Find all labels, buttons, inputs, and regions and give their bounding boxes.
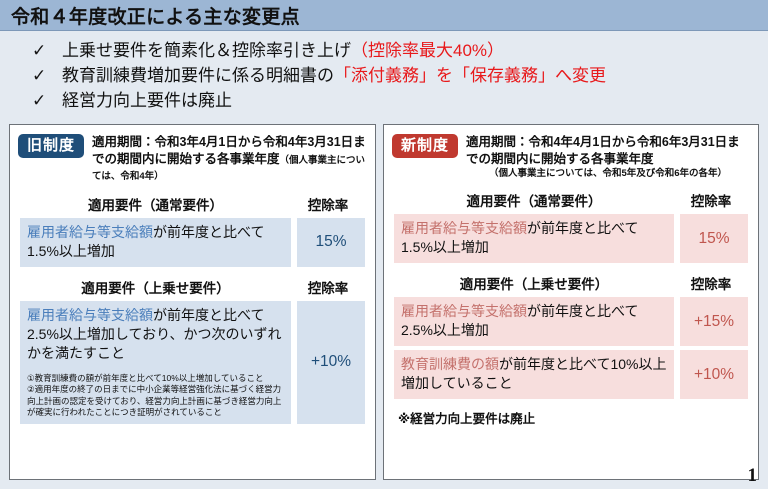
period-note-text: （個人事業主については、令和5年及び令和6年の各年） bbox=[466, 167, 750, 180]
new-system-panel: 新制度 適用期間：令和4年4月1日から令和6年3月31日までの期間内に開始する各… bbox=[383, 124, 759, 480]
rate-cell: +10% bbox=[680, 350, 748, 399]
table-row: 教育訓練費の額が前年度と比べて10%以上増加していること +10% bbox=[394, 350, 748, 399]
rate-cell: 15% bbox=[680, 214, 748, 263]
column-header-condition: 適用要件（上乗せ要件） bbox=[394, 273, 674, 293]
old-normal-column-headers: 適用要件（通常要件） 控除率 bbox=[20, 194, 365, 214]
condition-stack: 雇用者給与等支給額が前年度と比べて2.5%以上増加しており、かつ次のいずれかを満… bbox=[20, 301, 291, 424]
rate-cell: +10% bbox=[297, 301, 365, 424]
bullet-text: 経営力向上要件は廃止 bbox=[62, 89, 232, 113]
new-normal-requirement-section: 適用要件（通常要件） 控除率 雇用者給与等支給額が前年度と比べて1.5%以上増加… bbox=[384, 190, 758, 263]
condition-cell: 雇用者給与等支給額が前年度と比べて2.5%以上増加 bbox=[394, 297, 674, 346]
table-row: 雇用者給与等支給額が前年度と比べて1.5%以上増加 15% bbox=[20, 218, 365, 267]
check-icon: ✓ bbox=[32, 89, 62, 113]
check-icon: ✓ bbox=[32, 64, 62, 88]
condition-keyword: 雇用者給与等支給額 bbox=[27, 307, 153, 323]
fineprint-item-1: ①教育訓練費の額が前年度と比べて10%以上増加していること bbox=[27, 373, 284, 385]
condition-cell: 教育訓練費の額が前年度と比べて10%以上増加していること bbox=[394, 350, 674, 399]
rate-cell: +15% bbox=[680, 297, 748, 346]
old-normal-requirement-section: 適用要件（通常要件） 控除率 雇用者給与等支給額が前年度と比べて1.5%以上増加… bbox=[10, 194, 375, 267]
fineprint-item-2: ②適用年度の終了の日までに中小企業等経営強化法に基づく経営力向上計画の認定を受け… bbox=[27, 384, 284, 419]
old-system-panel: 旧制度 適用期間：令和3年4月1日から令和4年3月31日までの期間内に開始する各… bbox=[9, 124, 376, 480]
column-header-rate: 控除率 bbox=[674, 273, 748, 293]
condition-cell: 雇用者給与等支給額が前年度と比べて1.5%以上増加 bbox=[394, 214, 674, 263]
bullet-text: 教育訓練費増加要件に係る明細書の「添付義務」を「保存義務」へ変更 bbox=[62, 64, 606, 88]
bullet-text: 上乗せ要件を簡素化＆控除率引き上げ（控除率最大40%） bbox=[62, 39, 504, 63]
column-header-rate: 控除率 bbox=[291, 194, 365, 214]
page-title: 令和４年度改正による主な変更点 bbox=[0, 2, 300, 29]
bullet-highlight-text: 「添付義務」を「保存義務」へ変更 bbox=[334, 66, 606, 85]
table-row: 雇用者給与等支給額が前年度と比べて1.5%以上増加 15% bbox=[394, 214, 748, 263]
condition-cell: 雇用者給与等支給額が前年度と比べて1.5%以上増加 bbox=[20, 218, 291, 267]
slide-title-bar: 令和４年度改正による主な変更点 bbox=[0, 0, 768, 31]
condition-keyword: 教育訓練費の額 bbox=[401, 356, 499, 372]
new-system-period: 適用期間：令和4年4月1日から令和6年3月31日までの期間内に開始する各事業年度… bbox=[466, 134, 750, 180]
old-bonus-requirement-section: 適用要件（上乗せ要件） 控除率 雇用者給与等支給額が前年度と比べて2.5%以上増… bbox=[10, 277, 375, 424]
column-header-rate: 控除率 bbox=[291, 277, 365, 297]
status-badge: 旧制度 bbox=[18, 134, 84, 158]
old-system-header: 旧制度 適用期間：令和3年4月1日から令和4年3月31日までの期間内に開始する各… bbox=[10, 125, 375, 184]
new-system-header: 新制度 適用期間：令和4年4月1日から令和6年3月31日までの期間内に開始する各… bbox=[384, 125, 758, 180]
column-header-condition: 適用要件（通常要件） bbox=[394, 190, 674, 210]
new-bonus-column-headers: 適用要件（上乗せ要件） 控除率 bbox=[394, 273, 748, 293]
list-item: ✓ 教育訓練費増加要件に係る明細書の「添付義務」を「保存義務」へ変更 bbox=[0, 64, 768, 89]
status-badge: 新制度 bbox=[392, 134, 458, 158]
period-main-text: 適用期間：令和4年4月1日から令和6年3月31日までの期間内に開始する各事業年度 bbox=[466, 135, 740, 166]
condition-cell: 雇用者給与等支給額が前年度と比べて2.5%以上増加しており、かつ次のいずれかを満… bbox=[20, 301, 291, 369]
page-number: 1 bbox=[748, 465, 758, 487]
old-system-period: 適用期間：令和3年4月1日から令和4年3月31日までの期間内に開始する各事業年度… bbox=[92, 134, 367, 184]
column-header-condition: 適用要件（通常要件） bbox=[20, 194, 291, 214]
list-item: ✓ 経営力向上要件は廃止 bbox=[0, 89, 768, 114]
check-icon: ✓ bbox=[32, 39, 62, 63]
bullet-highlight-text: （控除率最大40%） bbox=[351, 41, 504, 60]
list-item: ✓ 上乗せ要件を簡素化＆控除率引き上げ（控除率最大40%） bbox=[0, 39, 768, 64]
old-bonus-column-headers: 適用要件（上乗せ要件） 控除率 bbox=[20, 277, 365, 297]
condition-fineprint: ①教育訓練費の額が前年度と比べて10%以上増加していること ②適用年度の終了の日… bbox=[20, 369, 291, 424]
column-header-rate: 控除率 bbox=[674, 190, 748, 210]
bullet-plain-text: 上乗せ要件を簡素化＆控除率引き上げ bbox=[62, 41, 351, 60]
table-row: 雇用者給与等支給額が前年度と比べて2.5%以上増加 +15% bbox=[394, 297, 748, 346]
condition-keyword: 雇用者給与等支給額 bbox=[401, 303, 527, 319]
new-system-footnote: ※経営力向上要件は廃止 bbox=[384, 399, 758, 427]
table-row: 雇用者給与等支給額が前年度と比べて2.5%以上増加しており、かつ次のいずれかを満… bbox=[20, 301, 365, 424]
condition-keyword: 雇用者給与等支給額 bbox=[27, 224, 153, 240]
bullet-plain-text: 経営力向上要件は廃止 bbox=[62, 91, 232, 110]
bullet-plain-text: 教育訓練費増加要件に係る明細書の bbox=[62, 66, 334, 85]
new-normal-column-headers: 適用要件（通常要件） 控除率 bbox=[394, 190, 748, 210]
summary-bullet-list: ✓ 上乗せ要件を簡素化＆控除率引き上げ（控除率最大40%） ✓ 教育訓練費増加要… bbox=[0, 31, 768, 118]
new-bonus-requirement-section: 適用要件（上乗せ要件） 控除率 雇用者給与等支給額が前年度と比べて2.5%以上増… bbox=[384, 273, 758, 399]
condition-keyword: 雇用者給与等支給額 bbox=[401, 220, 527, 236]
rate-cell: 15% bbox=[297, 218, 365, 267]
column-header-condition: 適用要件（上乗せ要件） bbox=[20, 277, 291, 297]
